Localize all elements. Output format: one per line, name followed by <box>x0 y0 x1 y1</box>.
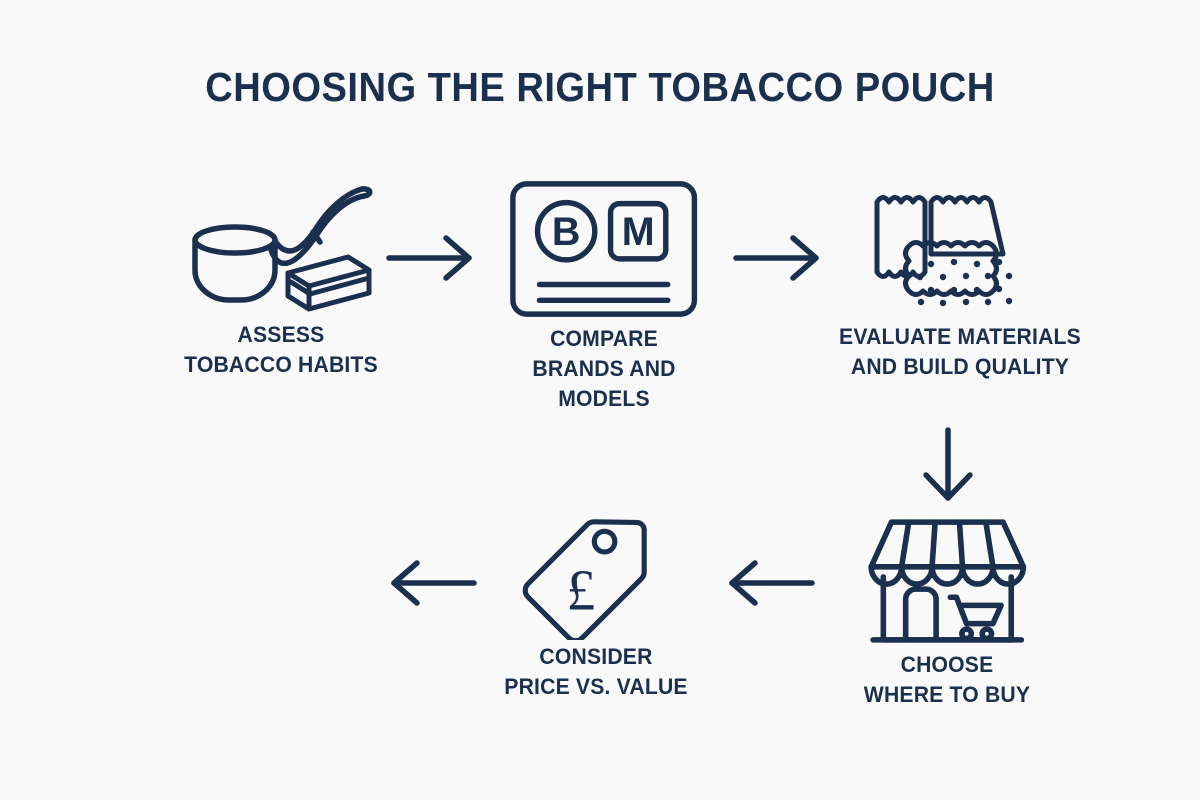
tobacco-pipe-icon <box>176 178 386 318</box>
page-title: CHOOSING THE RIGHT TOBACCO POUCH <box>42 64 1158 111</box>
flow-arrow-right-step2-to-step3 <box>730 230 830 286</box>
flow-step-label: COMPARE BRANDS AND MODELS <box>463 324 745 414</box>
brand-badge-letter-b: B <box>552 210 580 254</box>
brand-badge-letter-m: M <box>622 210 655 254</box>
brand-comparison-card-icon: B M <box>505 176 702 322</box>
fabric-swatches-icon <box>865 180 1055 320</box>
flow-step-label: CONSIDER PRICE VS. VALUE <box>455 642 737 702</box>
flow-step-label: EVALUATE MATERIALS AND BUILD QUALITY <box>819 322 1101 382</box>
flow-arrow-left-step4-to-step5 <box>708 555 818 611</box>
infographic-canvas: CHOOSING THE RIGHT TOBACCO POUCH <box>0 0 1200 800</box>
flow-step-label: CHOOSE WHERE TO BUY <box>806 650 1088 710</box>
price-currency-symbol: £ <box>566 558 595 623</box>
storefront-shop-icon <box>861 514 1034 648</box>
flow-arrow-left-step5-to-step1 <box>370 555 480 611</box>
flow-step-consider-price-vs-value: £ CONSIDER PRICE VS. VALUE <box>446 500 746 702</box>
flow-arrow-down-step3-to-step4 <box>908 424 988 514</box>
flow-step-compare-brands-and-models: B M COMPARE BRANDS AND MODELS <box>454 176 754 414</box>
flow-step-choose-where-to-buy: CHOOSE WHERE TO BUY <box>797 514 1097 710</box>
flow-step-evaluate-materials: EVALUATE MATERIALS AND BUILD QUALITY <box>810 180 1110 382</box>
price-tag-icon: £ <box>512 500 680 640</box>
flow-arrow-right-step1-to-step2 <box>383 230 483 286</box>
flow-step-label: ASSESS TOBACCO HABITS <box>140 320 422 380</box>
